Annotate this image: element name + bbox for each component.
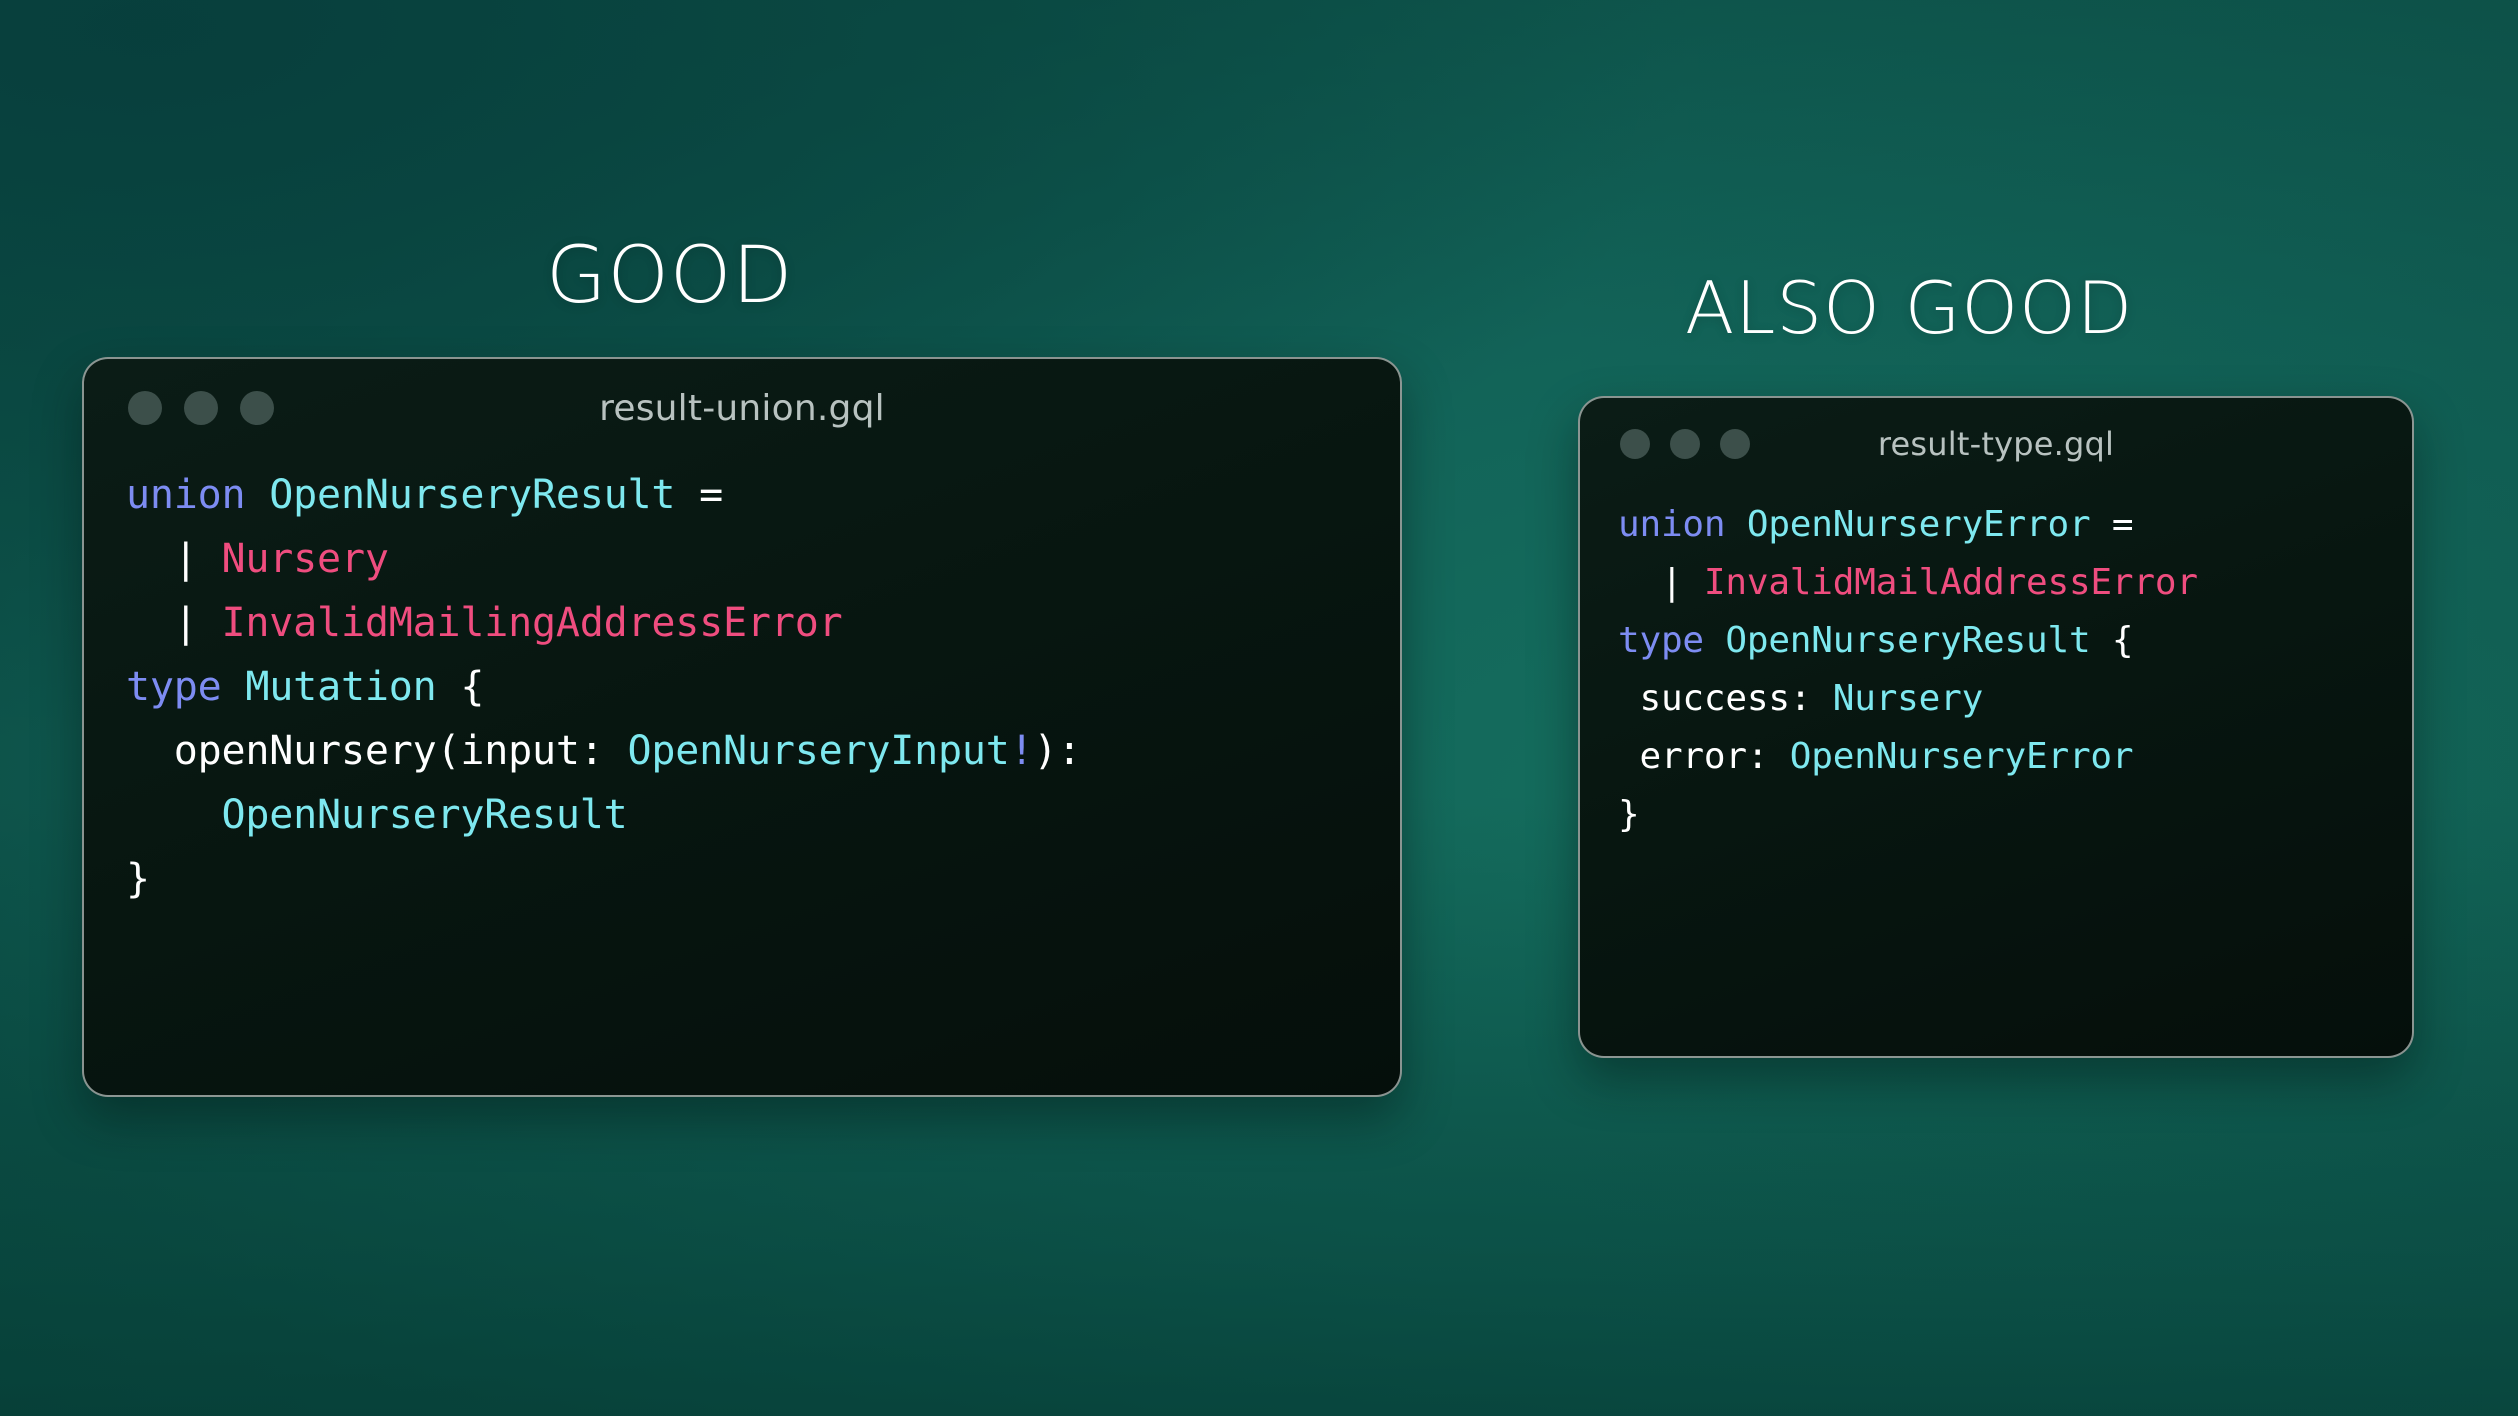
code-line: union OpenNurseryError = [1618, 496, 2412, 554]
code-line: success: Nursery [1618, 670, 2412, 728]
code-token-plain: = [675, 472, 723, 518]
code-token-keyword: type [1618, 620, 1725, 661]
code-block[interactable]: union OpenNurseryError = | InvalidMailAd… [1580, 490, 2412, 844]
code-token-type: OpenNurseryError [1790, 736, 2134, 777]
code-line: | InvalidMailAddressError [1618, 554, 2412, 612]
code-token-union: Nursery [222, 536, 389, 582]
window-titlebar: result-type.gql [1580, 398, 2412, 490]
code-token-bang: ! [1010, 728, 1034, 774]
code-line: type Mutation { [126, 655, 1400, 719]
code-token-type: OpenNurseryError [1747, 504, 2091, 545]
code-token-plain: } [1618, 794, 1639, 835]
code-token-pipe: | [126, 536, 222, 582]
code-line: type OpenNurseryResult { [1618, 612, 2412, 670]
code-line: union OpenNurseryResult = [126, 463, 1400, 527]
code-token-plain [126, 792, 222, 838]
code-token-plain: ): [1034, 728, 1082, 774]
code-token-type: OpenNurseryInput [628, 728, 1010, 774]
code-token-type: Nursery [1833, 678, 1983, 719]
code-line: } [126, 847, 1400, 911]
code-token-type: OpenNurseryResult [1725, 620, 2090, 661]
code-token-union: InvalidMailingAddressError [222, 600, 843, 646]
code-token-pipe: | [1618, 562, 1704, 603]
code-token-plain: error: [1618, 736, 1790, 777]
code-token-pipe: | [126, 600, 222, 646]
code-token-plain: { [2090, 620, 2133, 661]
panel-heading-good: GOOD [546, 233, 793, 319]
code-window-result-union: result-union.gql union OpenNurseryResult… [82, 357, 1402, 1097]
code-token-type: OpenNurseryResult [222, 792, 628, 838]
code-token-type: OpenNurseryResult [269, 472, 675, 518]
code-token-keyword: union [1618, 504, 1747, 545]
code-token-plain: } [126, 856, 150, 902]
code-token-keyword: type [126, 664, 245, 710]
code-token-plain: openNursery(input: [126, 728, 628, 774]
code-line: error: OpenNurseryError [1618, 728, 2412, 786]
panel-heading-also-good: ALSO GOOD [1685, 268, 2133, 348]
code-line: | Nursery [126, 527, 1400, 591]
window-filename: result-union.gql [84, 388, 1400, 429]
code-line: OpenNurseryResult [126, 783, 1400, 847]
code-token-keyword: union [126, 472, 269, 518]
code-line: openNursery(input: OpenNurseryInput!): [126, 719, 1400, 783]
code-line: } [1618, 786, 2412, 844]
code-token-union: InvalidMailAddressError [1704, 562, 2198, 603]
slide-stage: GOOD result-union.gql union OpenNurseryR… [0, 0, 2518, 1416]
window-filename: result-type.gql [1580, 425, 2412, 463]
code-window-result-type: result-type.gql union OpenNurseryError =… [1578, 396, 2414, 1058]
code-token-plain: success: [1618, 678, 1833, 719]
code-block[interactable]: union OpenNurseryResult = | Nursery | In… [84, 457, 1400, 911]
code-line: | InvalidMailingAddressError [126, 591, 1400, 655]
code-token-type: Mutation [245, 664, 436, 710]
code-token-plain: = [2090, 504, 2133, 545]
window-titlebar: result-union.gql [84, 359, 1400, 457]
code-token-plain: { [436, 664, 484, 710]
